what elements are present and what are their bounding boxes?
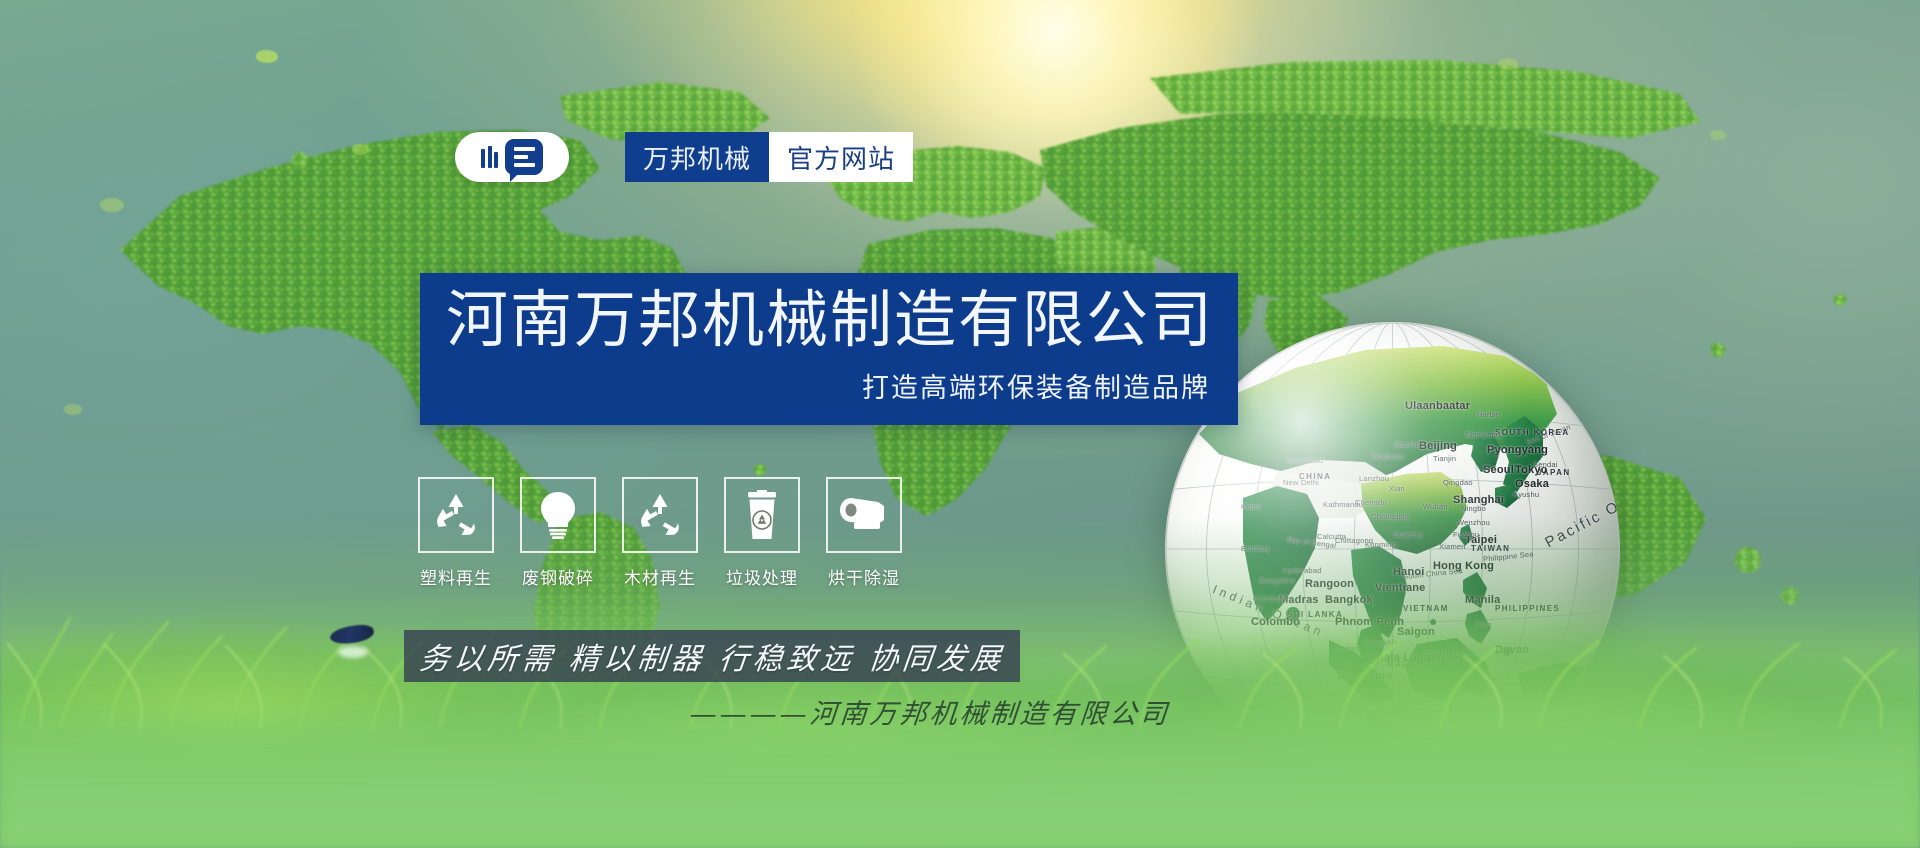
lightbulb-icon — [520, 477, 596, 553]
feature-item-2[interactable]: 废钢破碎 — [520, 477, 596, 589]
page-subtitle: 打造高端环保装备制造品牌 — [446, 366, 1210, 405]
globe-label: Yinchuan — [1371, 452, 1404, 461]
globe-label: Ningbo — [1461, 504, 1486, 513]
feature-item-1[interactable]: 塑料再生 — [418, 477, 494, 589]
feature-label: 塑料再生 — [420, 564, 492, 589]
feature-item-4[interactable]: 垃圾处理 — [724, 477, 800, 589]
feature-icon-row: 塑料再生 废钢破碎 木材再生 垃圾处理 烘干除湿 — [418, 477, 902, 589]
feature-label: 废钢破碎 — [522, 564, 594, 589]
globe-label: Tianjin — [1433, 454, 1456, 463]
trash-bin-icon — [724, 477, 800, 553]
globe-label: Beijing — [1419, 440, 1457, 452]
globe-label: New Delhi — [1283, 478, 1319, 487]
tab-official-site[interactable]: 官方网站 — [769, 132, 913, 182]
feature-item-5[interactable]: 烘干除湿 — [826, 477, 902, 589]
dew-drop — [338, 646, 368, 658]
globe-label: Qingdao — [1443, 478, 1473, 487]
feature-item-3[interactable]: 木材再生 — [622, 477, 698, 589]
feature-label: 木材再生 — [624, 564, 696, 589]
globe-label: SOUTH KOREA — [1495, 428, 1570, 437]
globe-label: Xian — [1389, 484, 1405, 493]
globe-label: Seoul — [1483, 464, 1514, 476]
feature-label: 烘干除湿 — [828, 564, 900, 589]
globe-label: Harbin — [1477, 410, 1500, 419]
globe-label: Baotou — [1395, 440, 1420, 449]
logo-speech-bubble-icon — [505, 139, 543, 175]
globe-label: Sendai — [1533, 460, 1558, 469]
floating-speck — [256, 50, 278, 63]
hero-title-panel: 河南万邦机械制造有限公司 打造高端环保装备制造品牌 — [420, 273, 1238, 425]
header-tabs: 万邦机械 官方网站 — [625, 132, 913, 182]
floating-speck — [64, 404, 82, 415]
slogan-banner: 务以所需 精以制器 行稳致远 协同发展 — [404, 630, 1020, 682]
page-title: 河南万邦机械制造有限公司 — [446, 287, 1210, 352]
globe-label: Islamabad — [1287, 456, 1323, 465]
floating-speck — [1498, 58, 1518, 70]
floating-speck — [100, 198, 124, 212]
slogan-text: 务以所需 精以制器 行稳致远 协同发展 — [417, 634, 1006, 678]
recycle-icon — [418, 477, 494, 553]
recycle-icon — [622, 477, 698, 553]
logo-bars-icon — [481, 146, 498, 168]
globe-label: Wuhan — [1423, 502, 1448, 511]
globe-label: Osaka — [1515, 478, 1549, 490]
globe-label: Shenyang — [1465, 430, 1500, 439]
globe-label: Ulaanbaatar — [1405, 400, 1470, 412]
tab-brand[interactable]: 万邦机械 — [625, 132, 769, 182]
blower-icon — [826, 477, 902, 553]
slogan-credit: ————河南万邦机械制造有限公司 — [688, 692, 1171, 731]
hero-banner: Pacific OceanIndian OceanSouth China Sea… — [0, 0, 1920, 848]
floating-speck — [352, 144, 369, 155]
feature-label: 垃圾处理 — [726, 564, 798, 589]
site-header: 万邦机械 官方网站 — [455, 132, 913, 182]
globe-label: Pyongyang — [1487, 444, 1548, 456]
globe-label: Kyushu — [1513, 490, 1539, 499]
globe-label: Kabul — [1241, 502, 1261, 511]
wanbang-logo-icon[interactable] — [455, 132, 569, 182]
globe-label: Lanzhou — [1359, 474, 1389, 483]
globe-label: Kathmandu — [1323, 500, 1363, 509]
floating-speck — [1710, 130, 1726, 140]
